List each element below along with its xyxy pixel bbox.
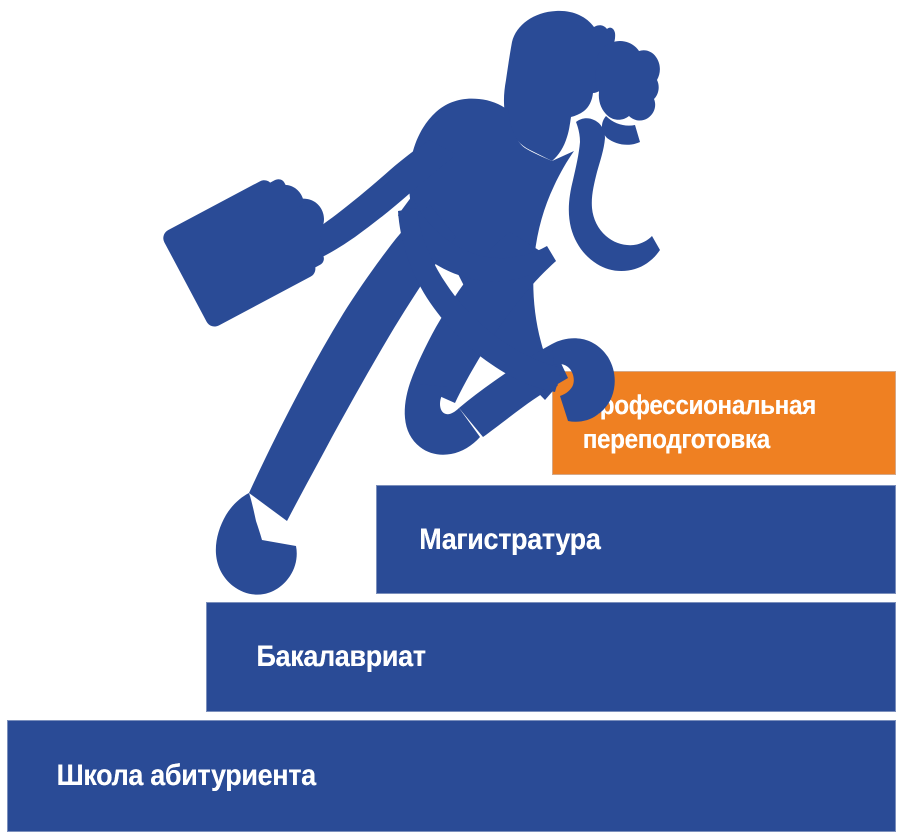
step-applicant-school[interactable]: Школа абитуриента [7, 720, 896, 832]
raised-fist [595, 41, 660, 120]
briefcase-side-panel [258, 177, 326, 274]
head-shape [504, 11, 615, 161]
gripping-hand [281, 199, 324, 261]
step-bachelor[interactable]: Бакалавриат [206, 602, 896, 712]
step-label-professional-retraining: Профессиональная переподготовка [553, 389, 816, 457]
briefcase-handle [268, 185, 304, 209]
step-magistracy[interactable]: Магистратура [376, 485, 896, 594]
rear-shoe [216, 493, 297, 595]
front-calf [405, 383, 480, 455]
step-label-applicant-school: Школа абитуриента [8, 759, 316, 793]
fist-wrist [602, 116, 640, 145]
front-arm [569, 118, 660, 271]
rear-leg [249, 205, 456, 521]
front-thigh [410, 232, 556, 403]
step-label-bachelor: Бакалавриат [207, 640, 426, 674]
step-professional-retraining[interactable]: Профессиональная переподготовка [552, 371, 896, 475]
hip [398, 196, 556, 281]
back-arm [305, 140, 455, 259]
torso-jacket [409, 99, 574, 400]
jacket-tail [398, 208, 562, 392]
step-label-magistracy: Магистратура [377, 523, 600, 557]
education-staircase-graphic: Профессиональная переподготовка Магистра… [0, 0, 907, 836]
briefcase-body [160, 177, 318, 330]
